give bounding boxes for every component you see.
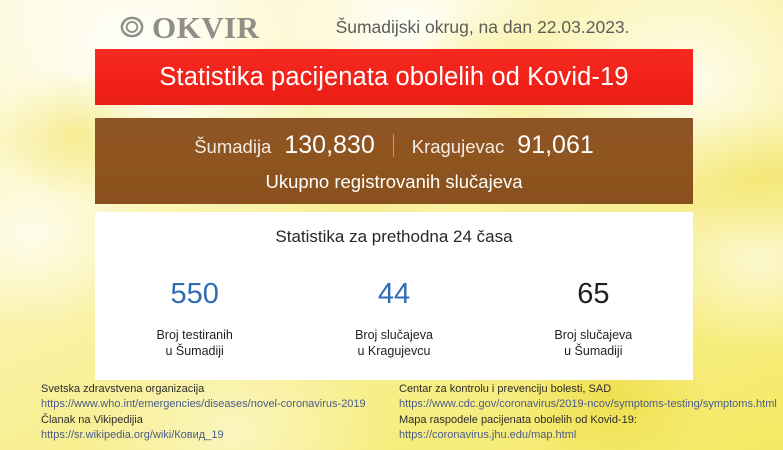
- source-title-jhu-map: Mapa raspodele pacijenata obolelih od Ko…: [399, 413, 777, 429]
- source-url-wikipedia[interactable]: https://sr.wikipedia.org/wiki/Ковид_19: [41, 428, 366, 444]
- title-banner-text: Statistika pacijenata obolelih od Kovid-…: [159, 63, 628, 92]
- source-url-jhu-map[interactable]: https://coronavirus.jhu.edu/map.html: [399, 428, 777, 444]
- totals-band: Šumadija 130,830 Kragujevac 91,061 Ukupn…: [95, 118, 693, 204]
- footer-sources-right: Centar za kontrolu i prevenciju bolesti,…: [399, 382, 777, 444]
- brand-logo: OKVIR: [118, 12, 260, 43]
- stat-caption-tested: Broj testiranih u Šumadiji: [95, 328, 294, 360]
- footer-sources-left: Svetska zdravstvena organizacija https:/…: [41, 382, 366, 444]
- totals-row: Šumadija 130,830 Kragujevac 91,061: [194, 131, 594, 160]
- source-title-who: Svetska zdravstvena organizacija: [41, 382, 366, 398]
- stat-caption-line-2: u Šumadiji: [95, 344, 294, 360]
- stat-caption-cases-sumadija: Broj slučajeva u Šumadiji: [494, 328, 693, 360]
- totals-city-value: 91,061: [517, 131, 593, 160]
- header-region-label: Šumadijski okrug, na dan: [336, 17, 533, 37]
- source-title-cdc: Centar za kontrolu i prevenciju bolesti,…: [399, 382, 777, 398]
- stat-value-tested: 550: [95, 280, 294, 309]
- stat-caption-line-2: u Kragujevcu: [294, 344, 493, 360]
- stat-caption-line-1: Broj slučajeva: [294, 328, 493, 344]
- stat-cell-tested: 550 Broj testiranih u Šumadiji: [95, 280, 294, 360]
- ring-logo-icon: [118, 13, 146, 41]
- stat-caption-line-1: Broj slučajeva: [494, 328, 693, 344]
- stat-caption-line-1: Broj testiranih: [95, 328, 294, 344]
- statistics-panel: Statistika za prethodna 24 časa 550 Broj…: [95, 212, 693, 380]
- poster-header: OKVIR Šumadijski okrug, na dan22.03.2023…: [0, 4, 783, 50]
- stat-value-cases-sumadija: 65: [494, 280, 693, 309]
- title-banner: Statistika pacijenata obolelih od Kovid-…: [95, 49, 693, 105]
- statistics-grid: 550 Broj testiranih u Šumadiji 44 Broj s…: [95, 280, 693, 360]
- totals-region-value: 130,830: [284, 131, 374, 160]
- brand-name: OKVIR: [152, 12, 260, 43]
- totals-caption: Ukupno registrovanih slučajeva: [265, 171, 522, 193]
- stat-cell-cases-sumadija: 65 Broj slučajeva u Šumadiji: [494, 280, 693, 360]
- totals-region-label: Šumadija: [194, 136, 271, 158]
- source-url-who[interactable]: https://www.who.int/emergencies/diseases…: [41, 397, 366, 413]
- stat-caption-line-2: u Šumadiji: [494, 344, 693, 360]
- source-title-wikipedia: Članak na Vikipedijia: [41, 413, 366, 429]
- totals-divider: [393, 134, 394, 157]
- statistics-heading: Statistika za prethodna 24 časa: [95, 212, 693, 247]
- stat-cell-cases-kragujevac: 44 Broj slučajeva u Kragujevcu: [294, 280, 493, 360]
- header-region-date: Šumadijski okrug, na dan22.03.2023.: [336, 17, 630, 38]
- stat-value-cases-kragujevac: 44: [294, 280, 493, 309]
- source-url-cdc[interactable]: https://www.cdc.gov/coronavirus/2019-nco…: [399, 397, 777, 413]
- stat-caption-cases-kragujevac: Broj slučajeva u Kragujevcu: [294, 328, 493, 360]
- totals-city-label: Kragujevac: [412, 136, 505, 158]
- covid-statistics-poster: OKVIR Šumadijski okrug, na dan22.03.2023…: [0, 0, 783, 450]
- header-date-value: 22.03.2023.: [537, 17, 629, 37]
